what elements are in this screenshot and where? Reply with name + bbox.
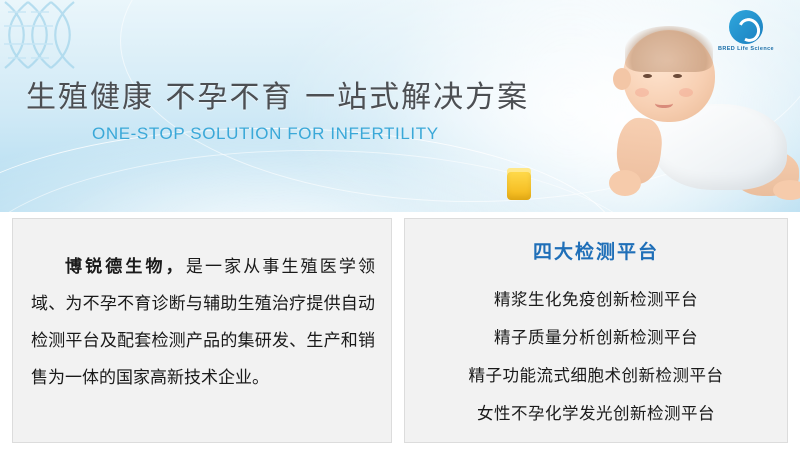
- company-intro-panel: 博锐德生物，是一家从事生殖医学领域、为不孕不育诊断与辅助生殖治疗提供自动检测平台…: [12, 218, 392, 443]
- baby-hand: [609, 170, 641, 196]
- hero-title: 生殖健康 不孕不育 一站式解决方案: [26, 72, 529, 116]
- content-area: 博锐德生物，是一家从事生殖医学领域、为不孕不育诊断与辅助生殖治疗提供自动检测平台…: [0, 212, 800, 450]
- brand-logo-text: BRED Life Science: [704, 46, 788, 52]
- platforms-title: 四大检测平台: [405, 237, 787, 264]
- company-intro-text: 博锐德生物，是一家从事生殖医学领域、为不孕不育诊断与辅助生殖治疗提供自动检测平台…: [31, 249, 375, 397]
- baby-eye: [673, 74, 682, 78]
- list-item: 精子功能流式细胞术创新检测平台: [405, 357, 787, 395]
- company-name: 博锐德生物，: [31, 257, 186, 277]
- list-item: 精子质量分析创新检测平台: [405, 319, 787, 357]
- dna-helix-icon: [0, 0, 150, 70]
- baby-foot: [773, 180, 800, 200]
- platforms-list: 精浆生化免疫创新检测平台 精子质量分析创新检测平台 精子功能流式细胞术创新检测平…: [405, 281, 787, 433]
- list-item: 精浆生化免疫创新检测平台: [405, 281, 787, 319]
- baby-cheek: [635, 88, 649, 97]
- baby-eye: [643, 74, 652, 78]
- list-item: 女性不孕化学发光创新检测平台: [405, 395, 787, 433]
- slide-root: 生殖健康 不孕不育 一站式解决方案 ONE-STOP SOLUTION FOR …: [0, 0, 800, 450]
- brand-logo-icon: [729, 10, 763, 44]
- hero-subtitle: ONE-STOP SOLUTION FOR INFERTILITY: [92, 124, 439, 144]
- baby-hair: [625, 26, 713, 72]
- baby-cheek: [679, 88, 693, 97]
- yellow-toy-block: [507, 172, 531, 200]
- hero-banner: 生殖健康 不孕不育 一站式解决方案 ONE-STOP SOLUTION FOR …: [0, 0, 800, 212]
- baby-ear: [613, 68, 631, 90]
- baby-mouth: [655, 96, 673, 108]
- platforms-panel: 四大检测平台 精浆生化免疫创新检测平台 精子质量分析创新检测平台 精子功能流式细…: [404, 218, 788, 443]
- brand-logo: BRED Life Science: [704, 10, 788, 58]
